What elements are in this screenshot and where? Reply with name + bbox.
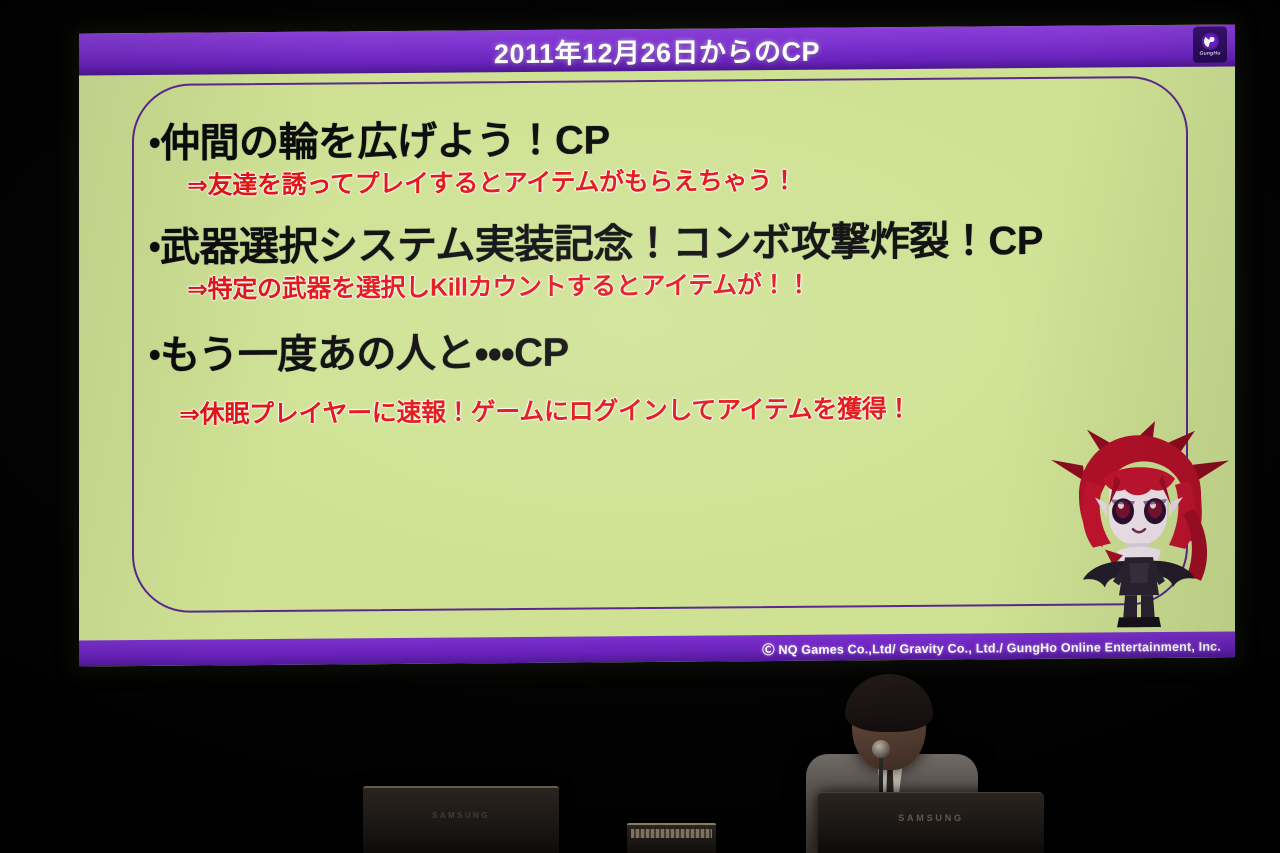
bullet-headline-text: 武器選択システム実装記念！コンボ攻撃炸裂！CP	[160, 219, 1043, 270]
bullet-headline: ・武器選択システム実装記念！コンボ攻撃炸裂！CP	[149, 219, 1177, 270]
laptop-brand-label: SAMSUNG	[898, 813, 964, 823]
list-item: ・もう一度あの人と・・・CP ⇒休眠プレイヤーに速報！ゲームにログインしてアイテ…	[149, 327, 1177, 428]
slide-title-bar: 2011年12月26日からのCP GungHo	[79, 24, 1235, 75]
bullet-marker: ・	[149, 123, 160, 161]
bullet-subline: ⇒休眠プレイヤーに速報！ゲームにログインしてアイテムを獲得！	[149, 392, 1177, 428]
stage-laptop-left: SAMSUNG	[363, 786, 559, 853]
presenter-hair	[845, 674, 933, 732]
podium-laptop: SAMSUNG	[818, 792, 1044, 853]
gungho-wordmark: GungHo	[1200, 51, 1221, 57]
bullet-subline: ⇒友達を誘ってプレイするとアイテムがもらえちゃう！	[149, 164, 1177, 200]
stage-laptop-small	[627, 823, 716, 853]
page-title: 2011年12月26日からのCP	[494, 29, 820, 71]
laptop-brand-label: SAMSUNG	[432, 811, 490, 820]
bullet-marker: ・	[149, 227, 160, 265]
projection-screen: 2011年12月26日からのCP GungHo ・仲間の輪を広げよう！CP ⇒友…	[79, 24, 1235, 666]
bullet-subline: ⇒特定の武器を選択しKillカウントするとアイテムが！！	[149, 268, 1177, 304]
bullet-list: ・仲間の輪を広げよう！CP ⇒友達を誘ってプレイするとアイテムがもらえちゃう！ …	[149, 97, 1177, 606]
laptop-keyboard	[631, 829, 712, 838]
bullet-headline: ・仲間の輪を広げよう！CP	[149, 115, 1177, 166]
list-item: ・武器選択システム実装記念！コンボ攻撃炸裂！CP ⇒特定の武器を選択しKillカ…	[149, 219, 1177, 304]
gungho-swirl-icon	[1202, 33, 1219, 50]
bullet-headline: ・もう一度あの人と・・・CP	[149, 327, 1177, 378]
list-item: ・仲間の輪を広げよう！CP ⇒友達を誘ってプレイするとアイテムがもらえちゃう！	[149, 115, 1177, 200]
bullet-headline-text: もう一度あの人と・・・CP	[160, 331, 569, 378]
bullet-headline-text: 仲間の輪を広げよう！CP	[160, 118, 610, 166]
gungho-logo: GungHo	[1193, 27, 1227, 63]
stage-room: 2011年12月26日からのCP GungHo ・仲間の輪を広げよう！CP ⇒友…	[0, 0, 1280, 853]
bullet-marker: ・	[149, 335, 160, 373]
copyright-notice: Ⓒ NQ Games Co.,Ltd/ Gravity Co., Ltd./ G…	[762, 635, 1235, 658]
microphone-icon	[872, 740, 890, 758]
